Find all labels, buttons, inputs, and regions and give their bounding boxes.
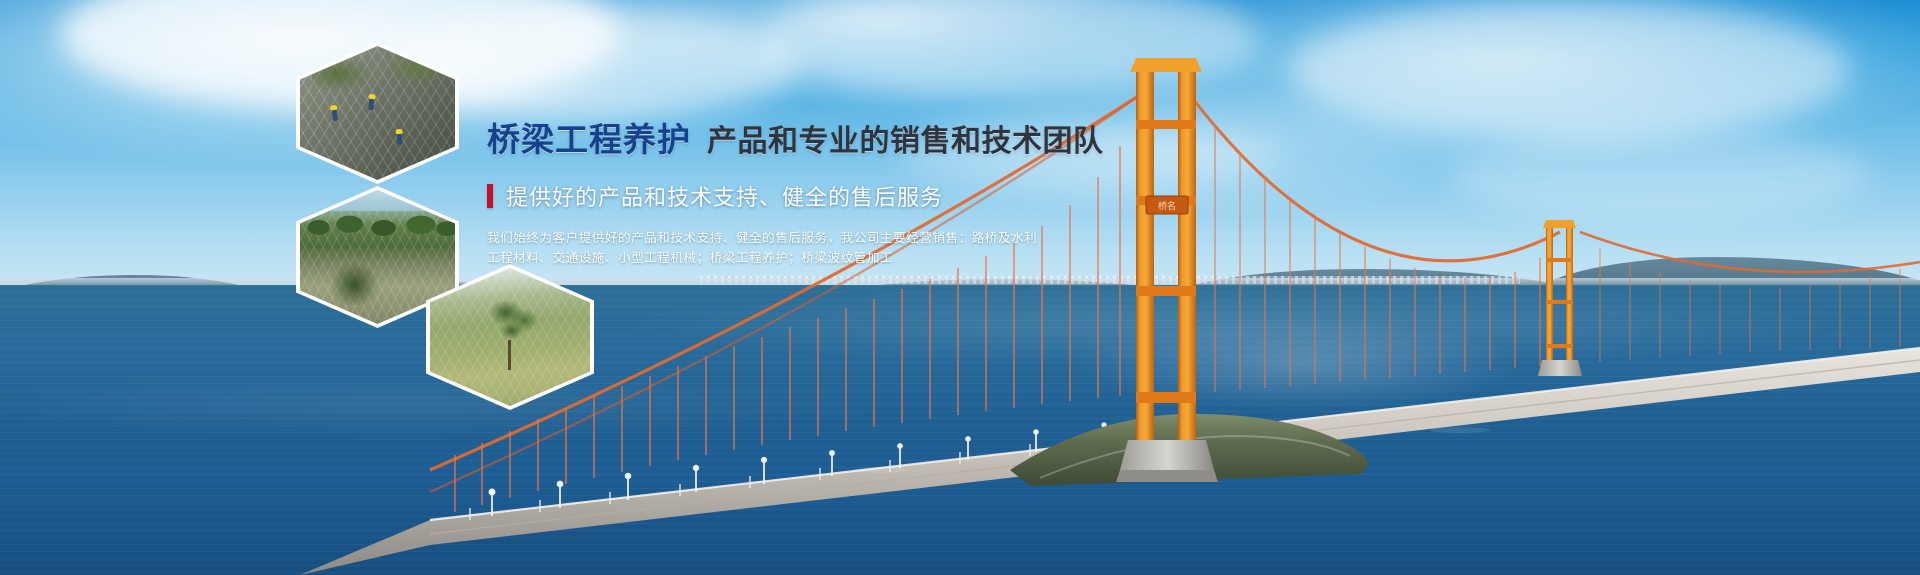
water-glint (980, 300, 1620, 430)
paragraph-line-2: 工程材料、交通设施、小型工程机械；桥梁工程养护；桥梁波纹管加工 (487, 248, 787, 268)
cloud (380, 10, 800, 120)
banner-subheading: 提供好的产品和技术支持、健全的售后服务 (506, 180, 943, 212)
banner-paragraph: 我们始终为客户提供好的产品和技术支持、健全的售后服务，我公司主要经营销售：路桥及… (487, 228, 787, 268)
cloud (1290, 0, 1850, 140)
banner-text-block: 桥梁工程养护产品和专业的销售和技术团队 提供好的产品和技术支持、健全的售后服务 … (487, 120, 1047, 268)
cloud (1450, 130, 1870, 220)
paragraph-line-1: 我们始终为客户提供好的产品和技术支持、健全的售后服务，我公司主要经营销售：路桥及… (487, 228, 787, 248)
headline-primary: 桥梁工程养护 (487, 121, 691, 158)
banner-headline: 桥梁工程养护产品和专业的销售和技术团队 (487, 120, 1047, 162)
accent-bar-icon (487, 184, 493, 208)
headline-secondary: 产品和专业的销售和技术团队 (707, 125, 1104, 158)
hero-banner: 桥名 (0, 0, 1920, 575)
banner-subheading-row: 提供好的产品和技术支持、健全的售后服务 (487, 182, 1047, 210)
cloud (760, 0, 1260, 100)
sea-water (0, 285, 1920, 575)
